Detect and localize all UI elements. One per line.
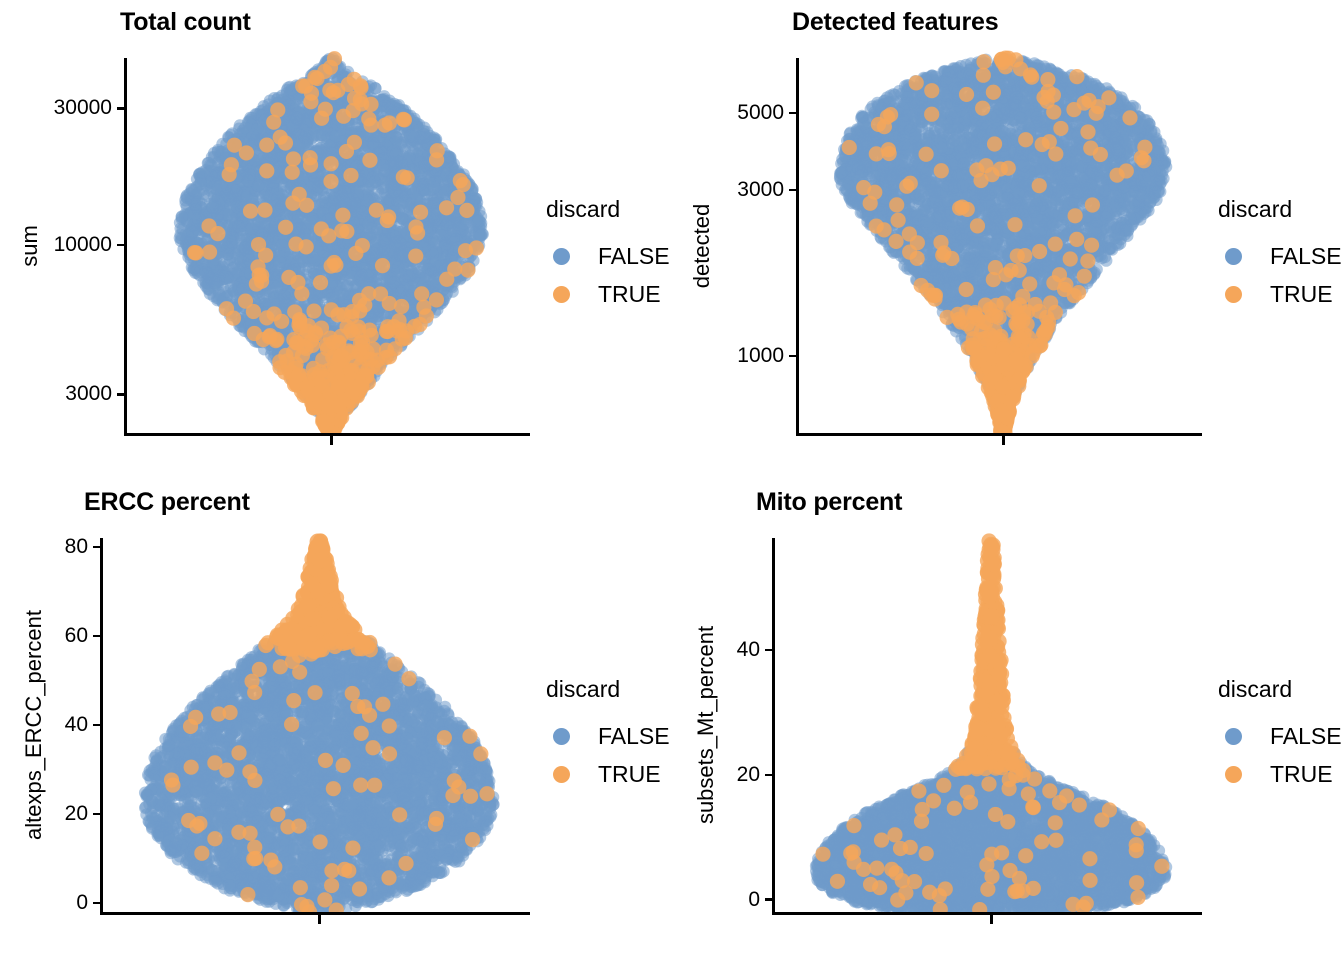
plot-area-ercc-percent [101, 480, 531, 912]
figure-grid: Total count sum discard FALSE TRUE 30001… [0, 0, 1344, 960]
legend-ercc-percent: discard FALSE TRUE [546, 676, 670, 793]
y-axis-tick-ercc-percent-2 [93, 724, 100, 727]
x-axis-tick-detected-features [1002, 436, 1005, 445]
y-axis-tick-mito-percent-2 [765, 649, 772, 652]
y-axis-tick-ercc-percent-3 [93, 635, 100, 638]
y-axis-tick-label-ercc-percent-2: 40 [65, 713, 88, 737]
legend-total-count: discard FALSE TRUE [546, 196, 670, 313]
y-axis-title-total-count: sum [17, 225, 43, 267]
x-axis-line-mito-percent [772, 912, 1202, 915]
legend-item-false[interactable]: FALSE [1218, 717, 1342, 755]
legend-title: discard [546, 676, 670, 703]
y-axis-tick-label-detected-features-1: 3000 [737, 178, 784, 202]
legend-title: discard [1218, 196, 1342, 223]
legend-item-false[interactable]: FALSE [1218, 237, 1342, 275]
legend-dot-true-icon [1218, 286, 1248, 303]
y-axis-tick-label-mito-percent-1: 20 [737, 763, 760, 787]
legend-title: discard [1218, 676, 1342, 703]
legend-label-true: TRUE [598, 281, 661, 308]
y-axis-tick-total-count-2 [117, 107, 124, 110]
legend-item-false[interactable]: FALSE [546, 237, 670, 275]
y-axis-tick-label-mito-percent-2: 40 [737, 638, 760, 662]
y-axis-tick-mito-percent-1 [765, 774, 772, 777]
legend-item-false[interactable]: FALSE [546, 717, 670, 755]
legend-dot-true-icon [1218, 766, 1248, 783]
x-axis-tick-total-count [330, 436, 333, 445]
y-axis-tick-total-count-1 [117, 244, 124, 247]
y-axis-tick-label-mito-percent-0: 0 [748, 888, 760, 912]
y-axis-tick-ercc-percent-4 [93, 546, 100, 549]
y-axis-tick-label-detected-features-2: 5000 [737, 101, 784, 125]
legend-item-true[interactable]: TRUE [1218, 275, 1342, 313]
panel-detected-features: Detected features detected discard FALSE… [672, 0, 1344, 480]
plot-area-detected-features [797, 0, 1203, 433]
x-axis-tick-ercc-percent [318, 915, 321, 924]
y-axis-title-ercc-percent: altexps_ERCC_percent [21, 610, 47, 840]
legend-detected-features: discard FALSE TRUE [1218, 196, 1342, 313]
violin-shape-detected-features [797, 0, 1203, 433]
legend-item-true[interactable]: TRUE [1218, 755, 1342, 793]
y-axis-tick-label-ercc-percent-3: 60 [65, 624, 88, 648]
y-axis-tick-mito-percent-0 [765, 898, 772, 901]
plot-area-mito-percent [773, 480, 1203, 912]
legend-dot-true-icon [546, 286, 576, 303]
legend-label-false: FALSE [1270, 243, 1342, 270]
y-axis-tick-total-count-0 [117, 393, 124, 396]
legend-label-true: TRUE [1270, 761, 1333, 788]
y-axis-tick-detected-features-0 [789, 355, 796, 358]
legend-dot-true-icon [546, 766, 576, 783]
y-axis-tick-label-ercc-percent-0: 0 [76, 891, 88, 915]
plot-area-total-count [125, 0, 531, 433]
legend-dot-false-icon [1218, 248, 1248, 265]
legend-item-true[interactable]: TRUE [546, 275, 670, 313]
x-axis-line-total-count [124, 433, 530, 436]
legend-title: discard [546, 196, 670, 223]
y-axis-tick-label-total-count-0: 3000 [65, 382, 112, 406]
violin-shape-total-count [125, 0, 531, 433]
legend-dot-false-icon [546, 248, 576, 265]
x-axis-tick-mito-percent [990, 915, 993, 924]
legend-item-true[interactable]: TRUE [546, 755, 670, 793]
legend-label-false: FALSE [598, 723, 670, 750]
legend-label-true: TRUE [1270, 281, 1333, 308]
y-axis-tick-detected-features-1 [789, 189, 796, 192]
legend-dot-false-icon [1218, 728, 1248, 745]
legend-dot-false-icon [546, 728, 576, 745]
y-axis-tick-label-ercc-percent-1: 20 [65, 802, 88, 826]
y-axis-tick-label-detected-features-0: 1000 [737, 344, 784, 368]
panel-total-count: Total count sum discard FALSE TRUE 30001… [0, 0, 672, 480]
y-axis-tick-label-total-count-1: 10000 [54, 233, 112, 257]
panel-mito-percent: Mito percent subsets_Mt_percent discard … [672, 480, 1344, 960]
x-axis-line-detected-features [796, 433, 1202, 436]
legend-label-true: TRUE [598, 761, 661, 788]
y-axis-title-mito-percent: subsets_Mt_percent [693, 626, 719, 824]
y-axis-tick-label-ercc-percent-4: 80 [65, 535, 88, 559]
panel-ercc-percent: ERCC percent altexps_ERCC_percent discar… [0, 480, 672, 960]
y-axis-title-detected-features: detected [689, 203, 715, 287]
y-axis-tick-ercc-percent-1 [93, 813, 100, 816]
violin-shape-ercc-percent [101, 480, 531, 912]
y-axis-tick-label-total-count-2: 30000 [54, 96, 112, 120]
y-axis-tick-ercc-percent-0 [93, 902, 100, 905]
legend-label-false: FALSE [1270, 723, 1342, 750]
legend-label-false: FALSE [598, 243, 670, 270]
legend-mito-percent: discard FALSE TRUE [1218, 676, 1342, 793]
violin-shape-mito-percent [773, 480, 1203, 912]
x-axis-line-ercc-percent [100, 912, 530, 915]
y-axis-tick-detected-features-2 [789, 112, 796, 115]
